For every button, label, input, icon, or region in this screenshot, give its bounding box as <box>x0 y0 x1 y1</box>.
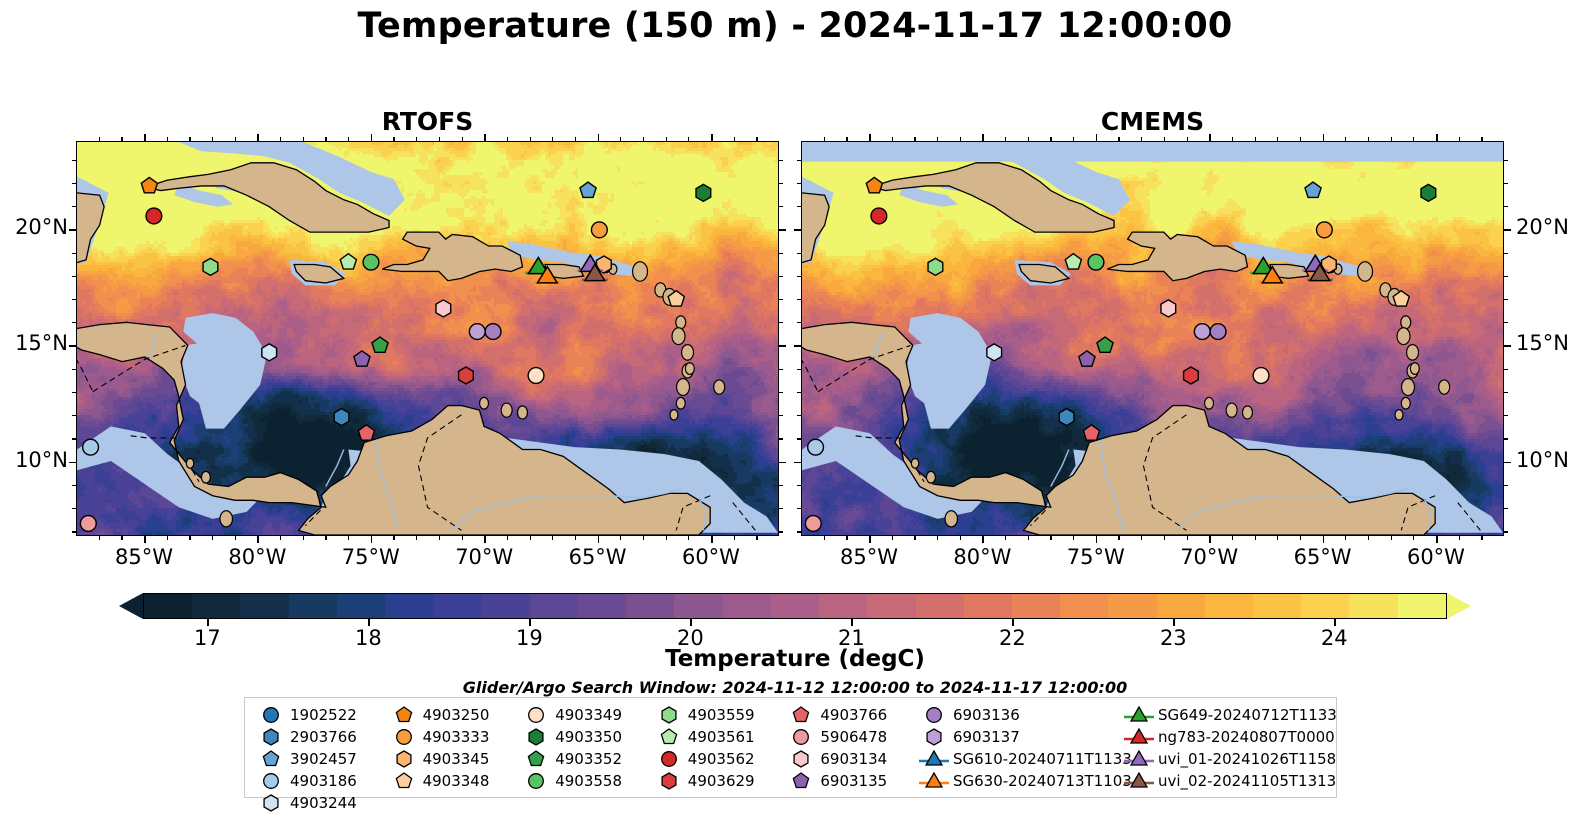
legend-label: 4903561 <box>686 728 755 746</box>
xtick-minor <box>507 536 508 540</box>
xtick-label: 80°W <box>937 545 1027 569</box>
ytick-minor <box>797 322 801 323</box>
legend-marker-pentagon-icon <box>387 770 421 792</box>
colorbar-band-5 <box>385 594 433 618</box>
legend-label: 4903349 <box>553 706 622 724</box>
legend-label: 6903135 <box>818 772 887 790</box>
ytick-major-right <box>1504 462 1511 464</box>
legend-item[interactable]: 4903352 <box>519 748 652 770</box>
xtick-minor <box>1073 536 1074 540</box>
xtick-major <box>598 536 600 543</box>
colorbar-band-26 <box>1398 594 1446 618</box>
legend-label: 4903562 <box>686 750 755 768</box>
xtick-minor <box>189 536 190 540</box>
xtick-minor <box>756 536 757 540</box>
xtick-minor <box>1050 536 1051 540</box>
ytick-major-right <box>1504 345 1511 347</box>
legend-marker-triangle-line-icon <box>917 748 951 770</box>
xtick-minor-top <box>121 137 122 141</box>
xtick-minor <box>1255 536 1256 540</box>
colorbar-band-21 <box>1157 594 1205 618</box>
legend-item[interactable]: 4903333 <box>387 726 520 748</box>
legend-item[interactable]: 6903137 <box>917 726 1122 748</box>
xtick-minor <box>462 536 463 540</box>
xtick-minor <box>1413 536 1414 540</box>
legend-label: 4903766 <box>818 706 887 724</box>
ytick-minor <box>72 276 76 277</box>
ytick-minor-right <box>1504 508 1508 509</box>
ytick-major-right <box>1504 229 1511 231</box>
xtick-major-top <box>711 134 713 141</box>
ytick-major-right <box>779 229 786 231</box>
legend-column-5: 69031366903137SG610-20240711T1133SG630-2… <box>917 704 1122 814</box>
xtick-minor <box>416 536 417 540</box>
map-marker-4903559[interactable] <box>928 258 943 275</box>
legend-label: uvi_01-20241026T1158 <box>1156 750 1336 768</box>
map-marker-6903136[interactable] <box>485 324 501 340</box>
colorbar-band-10 <box>626 594 674 618</box>
ytick-minor-right <box>779 438 783 439</box>
legend-column-3: 4903559490356149035624903629 <box>652 704 785 814</box>
legend-item[interactable]: uvi_01-20241026T1158 <box>1122 748 1327 770</box>
legend-marker-pentagon-icon <box>387 704 421 726</box>
ytick-label-right: 10°N <box>1516 448 1590 472</box>
ytick-minor-right <box>779 531 783 532</box>
ytick-minor-right <box>779 415 783 416</box>
map-marker-2903766[interactable] <box>334 409 349 426</box>
ytick-minor <box>72 160 76 161</box>
ytick-minor <box>797 253 801 254</box>
legend-label: 4903558 <box>553 772 622 790</box>
ytick-major <box>69 229 76 231</box>
ytick-minor-right <box>779 369 783 370</box>
colorbar-tick <box>1334 619 1336 626</box>
ytick-minor <box>797 206 801 207</box>
legend-label: 4903559 <box>686 706 755 724</box>
xtick-minor <box>325 536 326 540</box>
legend-item[interactable]: 4903562 <box>652 748 785 770</box>
map-marker-4903562[interactable] <box>146 208 162 224</box>
legend-label: SG630-20240713T1103 <box>951 772 1132 790</box>
xtick-minor-top <box>1277 137 1278 141</box>
ytick-major <box>794 462 801 464</box>
colorbar-band-18 <box>1012 594 1060 618</box>
legend-marker-triangle-line-icon <box>1122 726 1156 748</box>
xtick-minor-top <box>416 137 417 141</box>
xtick-minor <box>1345 536 1346 540</box>
xtick-major-top <box>144 134 146 141</box>
map-marker-4903244[interactable] <box>987 344 1002 361</box>
xtick-minor <box>914 536 915 540</box>
legend-marker-circle-icon <box>254 704 288 726</box>
xtick-minor-top <box>303 137 304 141</box>
ytick-minor-right <box>779 253 783 254</box>
ytick-minor-right <box>1504 206 1508 207</box>
map-marker-5906478[interactable] <box>805 516 821 532</box>
colorbar-tick <box>851 619 853 626</box>
xtick-minor-top <box>1073 137 1074 141</box>
ytick-minor <box>797 415 801 416</box>
legend-marker-circle-icon <box>784 726 818 748</box>
legend-label: 4903186 <box>288 772 357 790</box>
xtick-minor <box>734 536 735 540</box>
ytick-minor <box>797 369 801 370</box>
map-marker-6903134[interactable] <box>436 300 451 317</box>
legend-item[interactable]: 5906478 <box>784 726 917 748</box>
xtick-minor-top <box>1028 137 1029 141</box>
legend-marker-pentagon-icon <box>519 748 553 770</box>
colorbar-band-13 <box>771 594 819 618</box>
xtick-minor <box>1232 536 1233 540</box>
xtick-major-top <box>598 134 600 141</box>
colorbar-band-3 <box>289 594 337 618</box>
legend-item[interactable]: 4903558 <box>519 770 652 792</box>
xtick-minor <box>666 536 667 540</box>
legend-column-6: SG649-20240712T1133ng783-20240807T0000uv… <box>1122 704 1327 814</box>
colorbar-extend-high <box>1447 593 1471 619</box>
xtick-minor <box>121 536 122 540</box>
colorbar-tick <box>368 619 370 626</box>
legend-marker-hexagon-icon <box>652 770 686 792</box>
legend-label: 2903766 <box>288 728 357 746</box>
colorbar-label: Temperature (degC) <box>0 646 1590 672</box>
ytick-minor <box>72 253 76 254</box>
xtick-major <box>1436 536 1438 543</box>
xtick-minor-top <box>189 137 190 141</box>
legend-marker-hexagon-icon <box>917 726 951 748</box>
xtick-minor-top <box>1050 137 1051 141</box>
legend-column-0: 19025222903766390245749031864903244 <box>254 704 387 814</box>
legend-label: 3902457 <box>288 750 357 768</box>
legend-item[interactable]: 4903559 <box>652 704 785 726</box>
legend-item[interactable]: 6903134 <box>784 748 917 770</box>
legend-column-1: 4903250490333349033454903348 <box>387 704 520 814</box>
map-marker-4903333[interactable] <box>1316 222 1332 238</box>
xtick-minor <box>1118 536 1119 540</box>
colorbar-band-22 <box>1205 594 1253 618</box>
xtick-major-top <box>1436 134 1438 141</box>
colorbar-band-23 <box>1253 594 1301 618</box>
colorbar-band-6 <box>433 594 481 618</box>
ytick-minor <box>797 160 801 161</box>
colorbar-band-25 <box>1349 594 1397 618</box>
legend-label: 4903350 <box>553 728 622 746</box>
legend-item[interactable]: 2903766 <box>254 726 387 748</box>
ytick-minor <box>797 183 801 184</box>
legend-marker-hexagon-icon <box>652 704 686 726</box>
map-marker-4903244[interactable] <box>262 344 277 361</box>
xtick-major-top <box>1323 134 1325 141</box>
legend-item[interactable]: SG610-20240711T1133 <box>917 748 1122 770</box>
xtick-major-top <box>869 134 871 141</box>
ytick-minor <box>797 438 801 439</box>
ytick-minor-right <box>779 485 783 486</box>
legend-marker-circle-icon <box>387 726 421 748</box>
legend-marker-pentagon-icon <box>254 748 288 770</box>
legend-item[interactable]: 4903561 <box>652 726 785 748</box>
legend-item[interactable]: 1902522 <box>254 704 387 726</box>
legend-box[interactable]: 1902522290376639024574903186490324449032… <box>244 697 1337 798</box>
legend-item[interactable]: 4903629 <box>652 770 785 792</box>
legend-item[interactable]: 6903136 <box>917 704 1122 726</box>
colorbar-band-2 <box>240 594 288 618</box>
xtick-major <box>711 536 713 543</box>
legend-item[interactable]: 6903135 <box>784 770 917 792</box>
ytick-minor <box>72 369 76 370</box>
ytick-minor-right <box>1504 438 1508 439</box>
xtick-minor-top <box>666 137 667 141</box>
xtick-major-top <box>371 134 373 141</box>
xtick-major-top <box>484 134 486 141</box>
xtick-minor-top <box>1481 137 1482 141</box>
ytick-minor-right <box>779 206 783 207</box>
xtick-minor-top <box>1164 137 1165 141</box>
xtick-minor-top <box>914 137 915 141</box>
xtick-minor-top <box>235 137 236 141</box>
xtick-minor <box>1300 536 1301 540</box>
ytick-minor-right <box>1504 322 1508 323</box>
ytick-minor-right <box>779 392 783 393</box>
colorbar-band-15 <box>867 594 915 618</box>
legend-label: 1902522 <box>288 706 357 724</box>
xtick-minor-top <box>439 137 440 141</box>
ytick-minor-right <box>1504 415 1508 416</box>
legend-item[interactable]: SG630-20240713T1103 <box>917 770 1122 792</box>
colorbar-band-7 <box>482 594 530 618</box>
map-marker-4903186[interactable] <box>83 439 99 455</box>
colorbar-band-17 <box>964 594 1012 618</box>
xtick-minor <box>892 536 893 540</box>
legend-marker-pentagon-icon <box>784 704 818 726</box>
map-marker-4903558[interactable] <box>1088 254 1104 270</box>
xtick-minor-top <box>824 137 825 141</box>
xtick-minor-top <box>530 137 531 141</box>
xtick-minor-top <box>212 137 213 141</box>
legend-item[interactable]: SG649-20240712T1133 <box>1122 704 1327 726</box>
xtick-minor <box>960 536 961 540</box>
map-marker-6903136[interactable] <box>1210 324 1226 340</box>
xtick-minor-top <box>846 137 847 141</box>
xtick-minor-top <box>1232 137 1233 141</box>
legend-label: SG649-20240712T1133 <box>1156 706 1337 724</box>
ytick-label-right: 15°N <box>1516 331 1590 355</box>
map-marker-5906478[interactable] <box>80 516 96 532</box>
ytick-label-left: 15°N <box>0 331 68 355</box>
legend-item[interactable]: 4903766 <box>784 704 917 726</box>
ytick-major-right <box>779 462 786 464</box>
xtick-minor-top <box>734 137 735 141</box>
xtick-minor-top <box>1391 137 1392 141</box>
legend-label: 4903250 <box>421 706 490 724</box>
legend-label: uvi_02-20241105T1313 <box>1156 772 1336 790</box>
ytick-minor-right <box>1504 299 1508 300</box>
colorbar-band-19 <box>1060 594 1108 618</box>
ytick-minor-right <box>1504 183 1508 184</box>
ytick-minor <box>72 392 76 393</box>
xtick-minor <box>1187 536 1188 540</box>
xtick-major-top <box>1209 134 1211 141</box>
legend-item[interactable]: 4903350 <box>519 726 652 748</box>
xtick-label: 75°W <box>326 545 416 569</box>
ytick-label-left: 10°N <box>0 448 68 472</box>
xtick-minor-top <box>393 137 394 141</box>
map-marker-4903349[interactable] <box>1253 368 1269 384</box>
ytick-minor <box>72 485 76 486</box>
map-marker-4903629[interactable] <box>459 367 474 384</box>
xtick-label: 85°W <box>824 545 914 569</box>
legend-label: 5906478 <box>818 728 887 746</box>
xtick-minor-top <box>1413 137 1414 141</box>
legend-item[interactable]: uvi_02-20241105T1313 <box>1122 770 1327 792</box>
map-panel-cmems[interactable] <box>801 141 1504 536</box>
legend-label: 6903134 <box>818 750 887 768</box>
map-marker-4903350[interactable] <box>1421 184 1436 201</box>
xtick-minor-top <box>507 137 508 141</box>
ytick-minor-right <box>1504 485 1508 486</box>
figure-root: Temperature (150 m) - 2024-11-17 12:00:0… <box>0 0 1590 829</box>
legend-item[interactable]: 4903349 <box>519 704 652 726</box>
panel-title-cmems: CMEMS <box>801 108 1504 136</box>
legend-title: Glider/Argo Search Window: 2024-11-12 12… <box>0 678 1590 697</box>
legend-item[interactable]: 4903250 <box>387 704 520 726</box>
xtick-major <box>869 536 871 543</box>
legend-marker-circle-icon <box>652 748 686 770</box>
map-marker-4903333[interactable] <box>591 222 607 238</box>
ytick-minor-right <box>779 508 783 509</box>
map-marker-4903562[interactable] <box>871 208 887 224</box>
figure-title: Temperature (150 m) - 2024-11-17 12:00:0… <box>0 6 1590 46</box>
map-marker-2903766[interactable] <box>1059 409 1074 426</box>
xtick-major <box>484 536 486 543</box>
xtick-major <box>257 536 259 543</box>
xtick-minor-top <box>1187 137 1188 141</box>
xtick-minor-top <box>688 137 689 141</box>
ytick-minor-right <box>779 322 783 323</box>
xtick-minor <box>937 536 938 540</box>
xtick-minor <box>280 536 281 540</box>
xtick-label: 75°W <box>1051 545 1141 569</box>
colorbar-band-14 <box>819 594 867 618</box>
legend-item[interactable]: 4903345 <box>387 748 520 770</box>
map-marker-4903558[interactable] <box>363 254 379 270</box>
legend-marker-triangle-line-icon <box>917 770 951 792</box>
xtick-minor-top <box>1345 137 1346 141</box>
xtick-minor-top <box>1118 137 1119 141</box>
legend-marker-triangle-line-icon <box>1122 748 1156 770</box>
ytick-minor-right <box>1504 392 1508 393</box>
xtick-label: 80°W <box>212 545 302 569</box>
map-marker-4903349[interactable] <box>528 368 544 384</box>
legend-label: SG610-20240711T1133 <box>951 750 1132 768</box>
legend-item[interactable]: ng783-20240807T0000 <box>1122 726 1327 748</box>
xtick-minor-top <box>167 137 168 141</box>
colorbar[interactable]: 1718192021222324 <box>119 593 1471 619</box>
xtick-minor <box>99 536 100 540</box>
ytick-minor <box>797 531 801 532</box>
legend-item[interactable]: 4903244 <box>254 792 387 814</box>
xtick-label: 70°W <box>1164 545 1254 569</box>
colorbar-band-1 <box>192 594 240 618</box>
map-marker-4903559[interactable] <box>203 258 218 275</box>
legend-item[interactable]: 4903348 <box>387 770 520 792</box>
ytick-minor-right <box>1504 531 1508 532</box>
map-panel-rtofs[interactable] <box>76 141 779 536</box>
colorbar-band-12 <box>723 594 771 618</box>
xtick-minor <box>1277 536 1278 540</box>
xtick-minor-top <box>643 137 644 141</box>
xtick-minor <box>1005 536 1006 540</box>
xtick-minor-top <box>325 137 326 141</box>
map-marker-6903137[interactable] <box>1194 324 1210 340</box>
ytick-minor <box>797 299 801 300</box>
map-marker-4903350[interactable] <box>696 184 711 201</box>
colorbar-band-4 <box>337 594 385 618</box>
map-marker-4903629[interactable] <box>1184 367 1199 384</box>
legend-column-2: 4903349490335049033524903558 <box>519 704 652 814</box>
legend-item[interactable]: 3902457 <box>254 748 387 770</box>
xtick-minor-top <box>960 137 961 141</box>
legend-marker-circle-icon <box>917 704 951 726</box>
xtick-major <box>982 536 984 543</box>
legend-item[interactable]: 4903186 <box>254 770 387 792</box>
ytick-minor <box>72 415 76 416</box>
legend-label: 4903345 <box>421 750 490 768</box>
xtick-minor-top <box>1459 137 1460 141</box>
legend-marker-hexagon-icon <box>784 748 818 770</box>
xtick-label: 65°W <box>1278 545 1368 569</box>
map-marker-6903137[interactable] <box>469 324 485 340</box>
legend-label: 4903629 <box>686 772 755 790</box>
xtick-major-top <box>257 134 259 141</box>
xtick-minor <box>303 536 304 540</box>
map-marker-6903134[interactable] <box>1161 300 1176 317</box>
ytick-major <box>794 229 801 231</box>
ytick-minor <box>72 299 76 300</box>
colorbar-band-16 <box>916 594 964 618</box>
legend-marker-triangle-line-icon <box>1122 704 1156 726</box>
xtick-minor <box>1459 536 1460 540</box>
legend-grid: 1902522290376639024574903186490324449032… <box>254 704 1327 814</box>
xtick-major <box>371 536 373 543</box>
xtick-label: 65°W <box>553 545 643 569</box>
colorbar-extend-low <box>119 593 143 619</box>
xtick-minor-top <box>1368 137 1369 141</box>
xtick-minor <box>1391 536 1392 540</box>
xtick-minor-top <box>348 137 349 141</box>
colorbar-band-24 <box>1301 594 1349 618</box>
ytick-minor-right <box>779 183 783 184</box>
map-marker-4903186[interactable] <box>808 439 824 455</box>
xtick-minor <box>212 536 213 540</box>
legend-marker-circle-icon <box>254 770 288 792</box>
legend-label: ng783-20240807T0000 <box>1156 728 1335 746</box>
xtick-major <box>1209 536 1211 543</box>
legend-marker-hexagon-icon <box>519 726 553 748</box>
xtick-minor-top <box>620 137 621 141</box>
panel-title-rtofs: RTOFS <box>76 108 779 136</box>
colorbar-band-0 <box>144 594 192 618</box>
ytick-minor-right <box>1504 369 1508 370</box>
ytick-minor <box>72 322 76 323</box>
xtick-label: 85°W <box>99 545 189 569</box>
colorbar-band-20 <box>1108 594 1156 618</box>
xtick-label: 60°W <box>1391 545 1481 569</box>
xtick-major-top <box>1096 134 1098 141</box>
legend-label: 4903244 <box>288 794 357 812</box>
xtick-minor <box>439 536 440 540</box>
legend-label: 6903136 <box>951 706 1020 724</box>
legend-marker-triangle-line-icon <box>1122 770 1156 792</box>
